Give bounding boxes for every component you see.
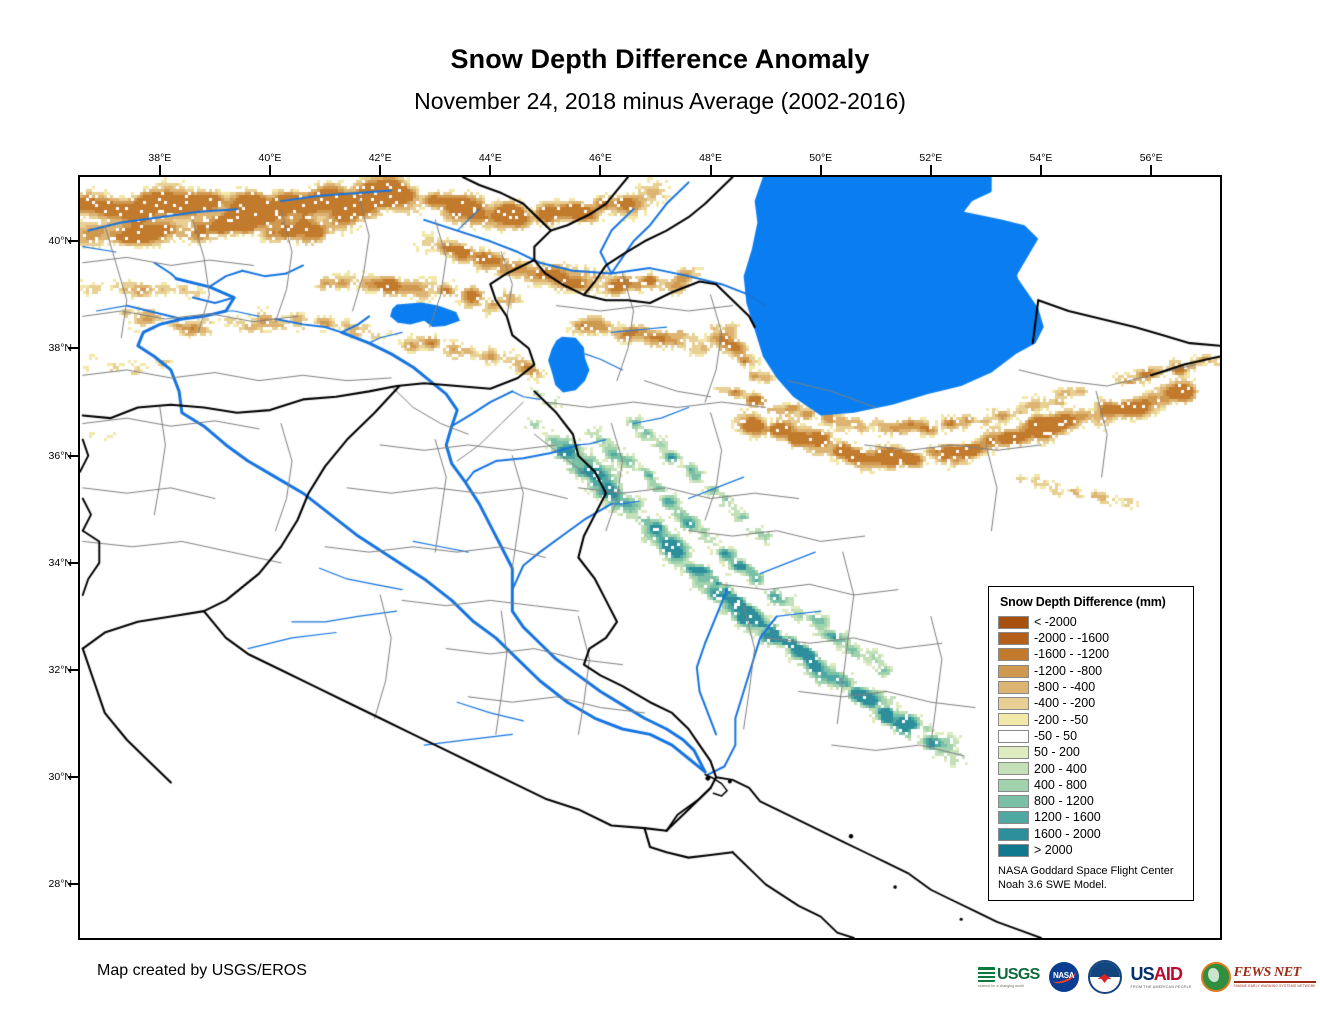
lon-tick-mark <box>710 165 712 175</box>
lat-tick-mark <box>68 669 78 671</box>
legend-row: -1200 - -800 <box>998 663 1184 679</box>
page-subtitle: November 24, 2018 minus Average (2002-20… <box>0 88 1320 115</box>
legend-class-list: < -2000-2000 - -1600-1600 - -1200-1200 -… <box>998 614 1184 858</box>
usaid-tagline: FROM THE AMERICAN PEOPLE <box>1131 985 1192 989</box>
page-title: Snow Depth Difference Anomaly <box>0 44 1320 75</box>
legend-row: -1600 - -1200 <box>998 647 1184 663</box>
legend-row: 200 - 400 <box>998 761 1184 777</box>
fewsnet-wordmark: FEWS NET <box>1234 966 1316 980</box>
legend-swatch <box>998 779 1029 792</box>
legend-swatch <box>998 762 1029 775</box>
lat-tick-mark <box>68 883 78 885</box>
nasa-meatball-icon: NASA <box>1049 962 1079 992</box>
legend-row: 1600 - 2000 <box>998 826 1184 842</box>
legend-note-line-2: Noah 3.6 SWE Model. <box>998 879 1184 893</box>
fewsnet-divider <box>1234 981 1316 982</box>
legend-row: -2000 - -1600 <box>998 630 1184 646</box>
usgs-wordmark: USGS <box>997 967 1040 983</box>
lat-tick-mark <box>68 240 78 242</box>
lat-tick-mark <box>68 562 78 564</box>
lon-tick-label: 50°E <box>809 152 832 164</box>
legend-swatch <box>998 795 1029 808</box>
usaid-word-us: US <box>1131 964 1154 984</box>
lat-tick-mark <box>68 455 78 457</box>
legend-swatch <box>998 713 1029 726</box>
lon-tick-mark <box>489 165 491 175</box>
legend-swatch <box>998 730 1029 743</box>
lon-tick-mark <box>599 165 601 175</box>
legend-label: 50 - 200 <box>1034 746 1080 759</box>
legend-label: 1200 - 1600 <box>1034 811 1101 824</box>
lon-tick-label: 40°E <box>259 152 282 164</box>
legend-swatch <box>998 681 1029 694</box>
legend-row: -400 - -200 <box>998 695 1184 711</box>
legend-swatch <box>998 828 1029 841</box>
lat-tick-mark <box>68 776 78 778</box>
legend-swatch <box>998 697 1029 710</box>
lon-tick-mark <box>379 165 381 175</box>
legend-swatch <box>998 616 1029 629</box>
legend-label: -1600 - -1200 <box>1034 648 1109 661</box>
legend-label: -200 - -50 <box>1034 714 1088 727</box>
legend-swatch <box>998 811 1029 824</box>
legend-swatch <box>998 632 1029 645</box>
usaid-word-aid: AID <box>1154 964 1182 984</box>
usaid-logo: USAID FROM THE AMERICAN PEOPLE <box>1131 960 1192 994</box>
legend-row: -200 - -50 <box>998 712 1184 728</box>
lon-tick-mark <box>1150 165 1152 175</box>
map-legend: Snow Depth Difference (mm) < -2000-2000 … <box>988 586 1194 901</box>
lon-tick-label: 38°E <box>148 152 171 164</box>
usgs-logo: USGS science for a changing world <box>978 960 1040 994</box>
lon-tick-label: 46°E <box>589 152 612 164</box>
legend-label: -2000 - -1600 <box>1034 632 1109 645</box>
legend-label: -400 - -200 <box>1034 697 1095 710</box>
legend-label: 1600 - 2000 <box>1034 828 1101 841</box>
legend-label: 400 - 800 <box>1034 779 1087 792</box>
legend-row: -50 - 50 <box>998 728 1184 744</box>
legend-label: -800 - -400 <box>1034 681 1095 694</box>
lon-tick-label: 42°E <box>369 152 392 164</box>
legend-label: -1200 - -800 <box>1034 665 1102 678</box>
legend-row: < -2000 <box>998 614 1184 630</box>
nasa-wordmark: NASA <box>1049 971 1079 980</box>
agency-logo-bar: USGS science for a changing world NASA U… <box>978 958 1316 996</box>
lon-tick-label: 52°E <box>919 152 942 164</box>
legend-swatch <box>998 844 1029 857</box>
noaa-seal-icon <box>1088 960 1122 994</box>
legend-title: Snow Depth Difference (mm) <box>1000 595 1184 609</box>
nasa-logo: NASA <box>1049 960 1079 994</box>
legend-source-note: NASA Goddard Space Flight Center Noah 3.… <box>998 865 1184 893</box>
lon-tick-label: 44°E <box>479 152 502 164</box>
fewsnet-globe-icon <box>1201 962 1231 992</box>
map-credit: Map created by USGS/EROS <box>97 962 307 980</box>
legend-swatch <box>998 665 1029 678</box>
legend-label: 800 - 1200 <box>1034 795 1094 808</box>
lon-tick-mark <box>1040 165 1042 175</box>
legend-row: > 2000 <box>998 842 1184 858</box>
fewsnet-tagline: FAMINE EARLY WARNING SYSTEMS NETWORK <box>1234 984 1316 988</box>
lon-tick-mark <box>269 165 271 175</box>
lon-tick-label: 56°E <box>1140 152 1163 164</box>
lon-tick-mark <box>159 165 161 175</box>
legend-row: 800 - 1200 <box>998 793 1184 809</box>
usaid-wordmark: USAID <box>1131 965 1183 983</box>
usgs-tagline: science for a changing world <box>978 984 1024 988</box>
legend-row: 50 - 200 <box>998 744 1184 760</box>
legend-label: < -2000 <box>1034 616 1077 629</box>
legend-swatch <box>998 746 1029 759</box>
legend-row: -800 - -400 <box>998 679 1184 695</box>
legend-note-line-1: NASA Goddard Space Flight Center <box>998 865 1184 879</box>
fewsnet-logo: FEWS NET FAMINE EARLY WARNING SYSTEMS NE… <box>1201 960 1316 994</box>
usgs-wave-icon <box>978 967 995 982</box>
legend-label: > 2000 <box>1034 844 1073 857</box>
legend-row: 400 - 800 <box>998 777 1184 793</box>
lon-tick-label: 54°E <box>1030 152 1053 164</box>
legend-label: -50 - 50 <box>1034 730 1077 743</box>
legend-label: 200 - 400 <box>1034 763 1087 776</box>
noaa-logo <box>1088 960 1122 994</box>
lon-tick-mark <box>820 165 822 175</box>
lon-tick-label: 48°E <box>699 152 722 164</box>
lat-tick-mark <box>68 347 78 349</box>
legend-row: 1200 - 1600 <box>998 810 1184 826</box>
lon-tick-mark <box>930 165 932 175</box>
legend-swatch <box>998 648 1029 661</box>
